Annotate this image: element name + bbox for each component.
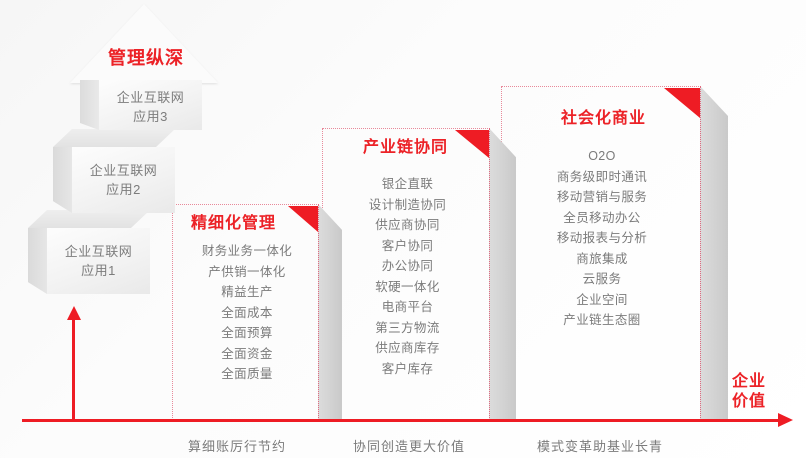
column-3-side-face [700, 86, 728, 420]
column-1-left-border [172, 204, 173, 420]
list-item: 全面资金 [183, 344, 311, 365]
list-item: 全员移动办公 [528, 208, 676, 229]
value-axis-label: 企业 价值 [732, 372, 766, 412]
list-item: 办公协同 [340, 256, 475, 277]
stair-block-2: 企业互联网 应用2 [72, 147, 175, 213]
column-1-caption: 算细账厉行节约 [188, 436, 286, 455]
value-axis-line [22, 419, 780, 422]
list-item: 供应商协同 [340, 215, 475, 236]
value-axis-label-line1: 企业 [732, 372, 766, 392]
column-2-right-border [489, 128, 490, 420]
list-item: 软硬一体化 [340, 277, 475, 298]
list-item: 电商平台 [340, 297, 475, 318]
list-item: 全面成本 [183, 303, 311, 324]
stair-block-3-side [80, 80, 99, 130]
stair-block-2-top [53, 129, 175, 147]
stair-block-1-line1: 企业互联网 [65, 242, 133, 261]
column-2-marker-icon [455, 130, 489, 158]
column-3-title: 社会化商业 [561, 104, 646, 128]
value-axis-label-line2: 价值 [732, 392, 766, 412]
stair-block-3-line2: 应用3 [133, 107, 168, 126]
column-3-items: O2O 商务级即时通讯 移动营销与服务 全员移动办公 移动报表与分析 商旅集成 … [528, 146, 676, 331]
column-1-title: 精细化管理 [191, 209, 276, 233]
stair-block-3-line1: 企业互联网 [117, 88, 185, 107]
list-item: 移动报表与分析 [528, 228, 676, 249]
stair-block-1-face: 企业互联网 应用1 [47, 228, 150, 294]
list-item: O2O [528, 146, 676, 167]
list-item: 银企直联 [340, 174, 475, 195]
value-arrow-right-icon [778, 413, 793, 427]
growth-arrow-up-icon [67, 306, 81, 320]
list-item: 供应商库存 [340, 338, 475, 359]
stair-block-2-line2: 应用2 [106, 180, 141, 199]
list-item: 全面质量 [183, 364, 311, 385]
diagram-canvas: 企业互联网 应用1 企业互联网 应用2 企业互联网 应用3 管理纵深 精细化管理… [0, 0, 806, 458]
stair-block-1: 企业互联网 应用1 [47, 228, 150, 294]
stair-block-2-side [53, 147, 72, 213]
list-item: 精益生产 [183, 282, 311, 303]
stair-block-2-line1: 企业互联网 [90, 161, 158, 180]
list-item: 云服务 [528, 269, 676, 290]
column-1-side-face [318, 204, 342, 420]
column-2-caption: 协同创造更大价值 [353, 436, 465, 455]
column-2-side-face [489, 128, 516, 420]
column-1-right-border [318, 204, 319, 420]
stair-block-3: 企业互联网 应用3 [99, 80, 202, 130]
list-item: 全面预算 [183, 323, 311, 344]
peak-title: 管理纵深 [108, 44, 184, 70]
column-1-items: 财务业务一体化 产供销一体化 精益生产 全面成本 全面预算 全面资金 全面质量 [183, 241, 311, 385]
list-item: 商旅集成 [528, 249, 676, 270]
list-item: 客户库存 [340, 359, 475, 380]
stair-block-1-line2: 应用1 [81, 261, 116, 280]
column-3-right-border [700, 86, 701, 420]
list-item: 企业空间 [528, 290, 676, 311]
list-item: 财务业务一体化 [183, 241, 311, 262]
column-2-top-border [322, 128, 490, 129]
list-item: 设计制造协同 [340, 195, 475, 216]
list-item: 移动营销与服务 [528, 187, 676, 208]
list-item: 第三方物流 [340, 318, 475, 339]
column-1-top-border [172, 204, 319, 205]
growth-axis-line [72, 318, 75, 421]
column-3-top-border [501, 86, 701, 87]
list-item: 产供销一体化 [183, 262, 311, 283]
list-item: 商务级即时通讯 [528, 167, 676, 188]
list-item: 产业链生态圈 [528, 310, 676, 331]
column-3-caption: 模式变革助基业长青 [537, 436, 663, 455]
column-2-title: 产业链协同 [363, 133, 448, 157]
stair-block-3-face: 企业互联网 应用3 [99, 80, 202, 130]
column-3-marker-icon [664, 88, 700, 118]
column-1-marker-icon [288, 206, 318, 232]
stair-block-2-face: 企业互联网 应用2 [72, 147, 175, 213]
column-2-items: 银企直联 设计制造协同 供应商协同 客户协同 办公协同 软硬一体化 电商平台 第… [340, 174, 475, 379]
stair-block-1-side [28, 228, 47, 294]
list-item: 客户协同 [340, 236, 475, 257]
